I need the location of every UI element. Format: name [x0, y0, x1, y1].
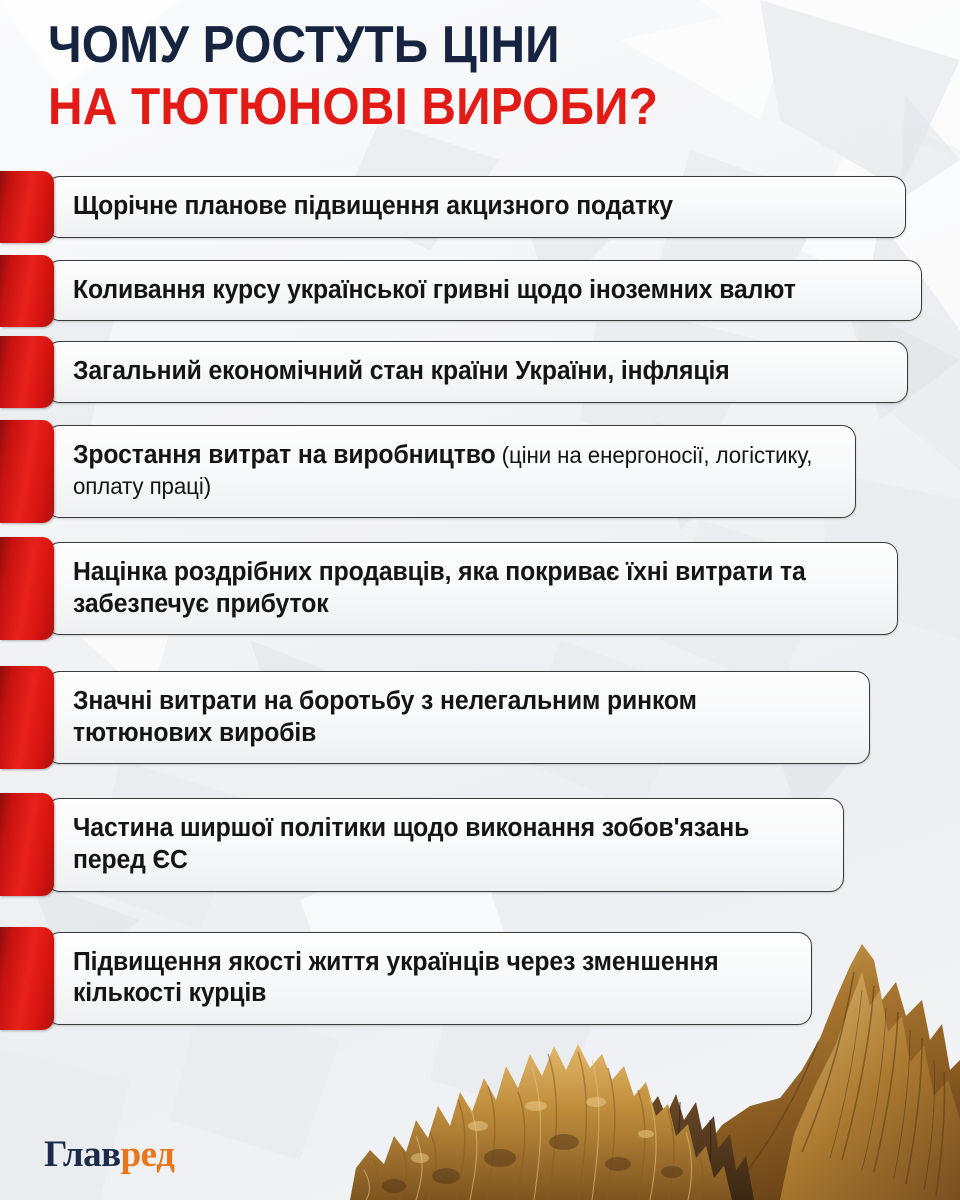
glavred-logo[interactable]: Главред — [44, 1133, 174, 1176]
reason-card: Зростання витрат на виробництво (ціни на… — [46, 425, 856, 518]
red-tab-marker — [0, 537, 54, 640]
reason-text-bold: Значні витрати на боротьбу з нелегальним… — [73, 687, 697, 747]
reason-text: Щорічне планове підвищення акцизного под… — [73, 191, 863, 223]
reason-card: Підвищення якості життя українців через … — [46, 932, 812, 1025]
reason-text: Зростання витрат на виробництво (ціни на… — [73, 440, 814, 503]
reason-text: Підвищення якості життя українців через … — [73, 947, 771, 1010]
logo-text-accent: ред — [121, 1134, 175, 1175]
red-tab-marker — [0, 666, 54, 769]
list-item: Щорічне планове підвищення акцизного под… — [0, 176, 960, 238]
list-item: Загальний економічний стан країни Україн… — [0, 341, 960, 403]
list-item: Підвищення якості життя українців через … — [0, 932, 960, 1025]
reason-card: Націнка роздрібних продавців, яка покрив… — [46, 542, 898, 635]
red-tab-marker — [0, 420, 54, 523]
reason-card: Значні витрати на боротьбу з нелегальним… — [46, 671, 870, 764]
list-item: Націнка роздрібних продавців, яка покрив… — [0, 542, 960, 635]
reason-text-bold: Націнка роздрібних продавців, яка покрив… — [73, 558, 806, 618]
reason-text: Коливання курсу української гривні щодо … — [73, 275, 878, 307]
reason-text-bold: Підвищення якості життя українців через … — [73, 948, 719, 1008]
red-tab-marker — [0, 336, 54, 408]
red-tab-marker — [0, 793, 54, 896]
page-title: ЧОМУ РОСТУТЬ ЦІНИ НА ТЮТЮНОВІ ВИРОБИ? — [48, 18, 928, 134]
list-item: Коливання курсу української гривні щодо … — [0, 260, 960, 322]
reason-card: Коливання курсу української гривні щодо … — [46, 260, 922, 322]
reason-card: Щорічне планове підвищення акцизного под… — [46, 176, 906, 238]
reasons-list: Щорічне планове підвищення акцизного под… — [0, 176, 960, 1035]
reason-text-bold: Зростання витрат на виробництво — [73, 441, 496, 469]
reason-text-bold: Щорічне планове підвищення акцизного под… — [73, 192, 673, 220]
reason-text: Частина ширшої політики щодо виконання з… — [73, 813, 802, 876]
infographic-page: ЧОМУ РОСТУТЬ ЦІНИ НА ТЮТЮНОВІ ВИРОБИ? Що… — [0, 0, 960, 1200]
logo-text-dark: Глав — [44, 1134, 121, 1175]
list-item: Частина ширшої політики щодо виконання з… — [0, 798, 960, 891]
title-line-1: ЧОМУ РОСТУТЬ ЦІНИ — [48, 18, 858, 72]
reason-text-bold: Коливання курсу української гривні щодо … — [73, 276, 796, 304]
title-line-2: НА ТЮТЮНОВІ ВИРОБИ? — [48, 80, 858, 134]
reason-text-bold: Загальний економічний стан країни Україн… — [73, 357, 730, 385]
reason-text-bold: Частина ширшої політики щодо виконання з… — [73, 814, 749, 874]
list-item: Значні витрати на боротьбу з нелегальним… — [0, 671, 960, 764]
red-tab-marker — [0, 171, 54, 243]
red-tab-marker — [0, 255, 54, 327]
reason-card: Частина ширшої політики щодо виконання з… — [46, 798, 844, 891]
list-item: Зростання витрат на виробництво (ціни на… — [0, 425, 960, 518]
reason-text: Загальний економічний стан країни Україн… — [73, 356, 865, 388]
reason-text: Націнка роздрібних продавців, яка покрив… — [73, 557, 855, 620]
reason-card: Загальний економічний стан країни Україн… — [46, 341, 908, 403]
reason-text: Значні витрати на боротьбу з нелегальним… — [73, 686, 828, 749]
red-tab-marker — [0, 927, 54, 1030]
